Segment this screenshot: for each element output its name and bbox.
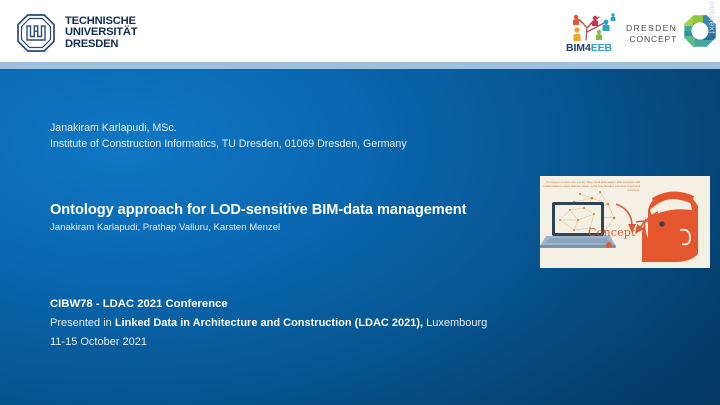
header-divider-rule xyxy=(0,62,720,69)
affiliation-block: Janakiram Karlapudi, MSc. Institute of C… xyxy=(50,120,407,152)
presented-in-prefix: Presented in xyxy=(50,317,115,329)
page-title: Ontology approach for LOD-sensitive BIM-… xyxy=(50,202,520,218)
tud-octagon-logo-icon xyxy=(16,13,56,53)
concept-label: Concept xyxy=(588,226,636,239)
tud-wordmark: Technische Universität Dresden xyxy=(65,16,137,51)
tu-dresden-logo: Technische Universität Dresden xyxy=(16,13,137,53)
bim4eeb-wordmark-accent: EEB xyxy=(591,42,612,54)
conference-event-name: Linked Data in Architecture and Construc… xyxy=(115,317,423,329)
dresden-concept-line2: concept xyxy=(630,34,678,44)
bim4eeb-wordmark: BIM4EEB xyxy=(566,42,612,54)
tud-wordmark-line3: Dresden xyxy=(65,39,137,51)
conference-venue: Presented in Linked Data in Architecture… xyxy=(50,317,570,329)
conference-block: CIBW78 - LDAC 2021 Conference Presented … xyxy=(50,298,570,348)
bim4eeb-wordmark-main: BIM4 xyxy=(566,42,591,54)
conference-name: CIBW78 - LDAC 2021 Conference xyxy=(50,298,570,310)
concept-dot-marker xyxy=(606,242,612,248)
conference-location: Luxembourg xyxy=(423,317,487,329)
dresden-concept-wordmark: Dresden concept xyxy=(626,23,677,45)
dresden-concept-line1: Dresden xyxy=(626,23,677,33)
talk-authors: Janakiram Karlapudi, Prathap Valluru, Ka… xyxy=(50,222,520,233)
slide-header: Technische Universität Dresden xyxy=(0,0,720,62)
ontology-brain-illustration: Ontologies function like a brain They 'w… xyxy=(540,176,710,268)
presenter-name: Janakiram Karlapudi, MSc. xyxy=(50,120,407,136)
presentation-slide: Technische Universität Dresden xyxy=(0,0,720,405)
bim4eeb-people-tree-icon xyxy=(566,10,624,42)
bim4eeb-logo: BIM4EEB xyxy=(566,10,624,54)
title-block: Ontology approach for LOD-sensitive BIM-… xyxy=(50,202,520,233)
dresden-concept-logo: Dresden concept xyxy=(626,14,717,53)
conference-dates: 11-15 October 2021 xyxy=(50,336,570,348)
image-source-credit: Source: ontotext xyxy=(707,0,717,34)
presenter-institute: Institute of Construction Informatics, T… xyxy=(50,136,407,152)
illustration-caption: Ontologies function like a brain They 'w… xyxy=(542,181,640,193)
